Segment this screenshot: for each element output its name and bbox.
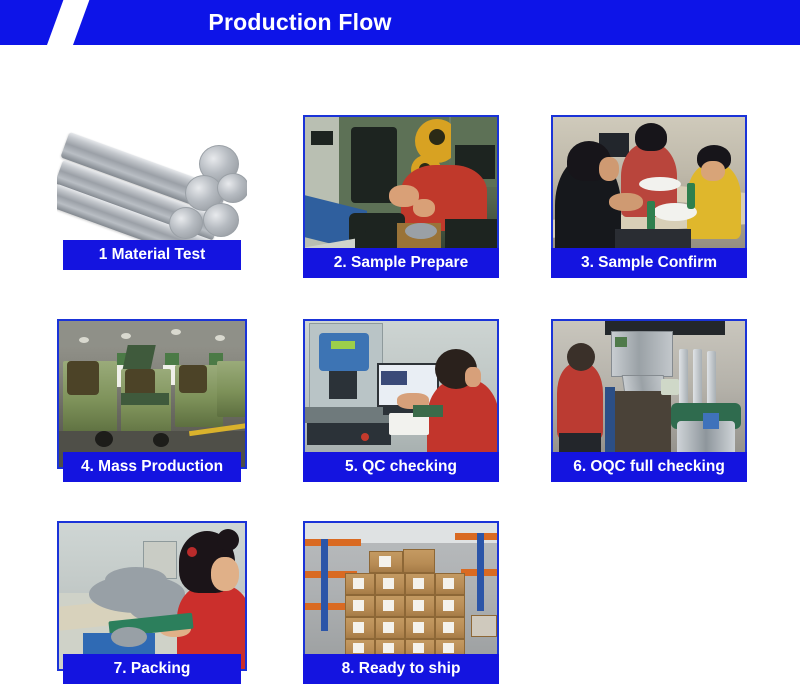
sample-prepare-image [305,117,497,263]
step-card-4[interactable]: 4. Mass Production [57,319,247,482]
step-card-2[interactable]: 2. Sample Prepare [303,115,499,278]
step-label-8[interactable]: 8. Ready to ship [303,654,499,684]
step-card-7[interactable]: 7. Packing [57,521,247,684]
step-label-1[interactable]: 1 Material Test [63,240,241,270]
step-photo-4 [57,319,247,469]
page-header: Production Flow [0,0,800,45]
step-photo-3 [551,115,747,265]
step-label-5[interactable]: 5. QC checking [303,452,499,482]
mass-production-image [59,321,245,467]
sample-confirm-image [553,117,745,263]
page-title: Production Flow [0,0,800,45]
step-label-3[interactable]: 3. Sample Confirm [551,248,747,278]
step-card-5[interactable]: 5. QC checking [303,319,499,482]
step-card-8[interactable]: 8. Ready to ship [303,521,499,684]
step-photo-1 [57,107,247,257]
step-photo-5 [303,319,499,469]
qc-checking-image [305,321,497,467]
step-photo-8 [303,521,499,671]
material-bars-image [57,107,247,257]
step-card-1[interactable]: 1 Material Test [57,107,247,270]
step-label-4[interactable]: 4. Mass Production [63,452,241,482]
step-card-6[interactable]: 6. OQC full checking [551,319,747,482]
step-photo-6 [551,319,747,469]
production-flow-grid: 1 Material Test [0,45,800,690]
step-label-7[interactable]: 7. Packing [63,654,241,684]
step-label-2[interactable]: 2. Sample Prepare [303,248,499,278]
step-card-3[interactable]: 3. Sample Confirm [551,115,747,278]
packing-image [59,523,245,669]
oqc-checking-image [553,321,745,467]
ready-to-ship-image [305,523,497,669]
step-label-6[interactable]: 6. OQC full checking [551,452,747,482]
step-photo-7 [57,521,247,671]
step-photo-2 [303,115,499,265]
